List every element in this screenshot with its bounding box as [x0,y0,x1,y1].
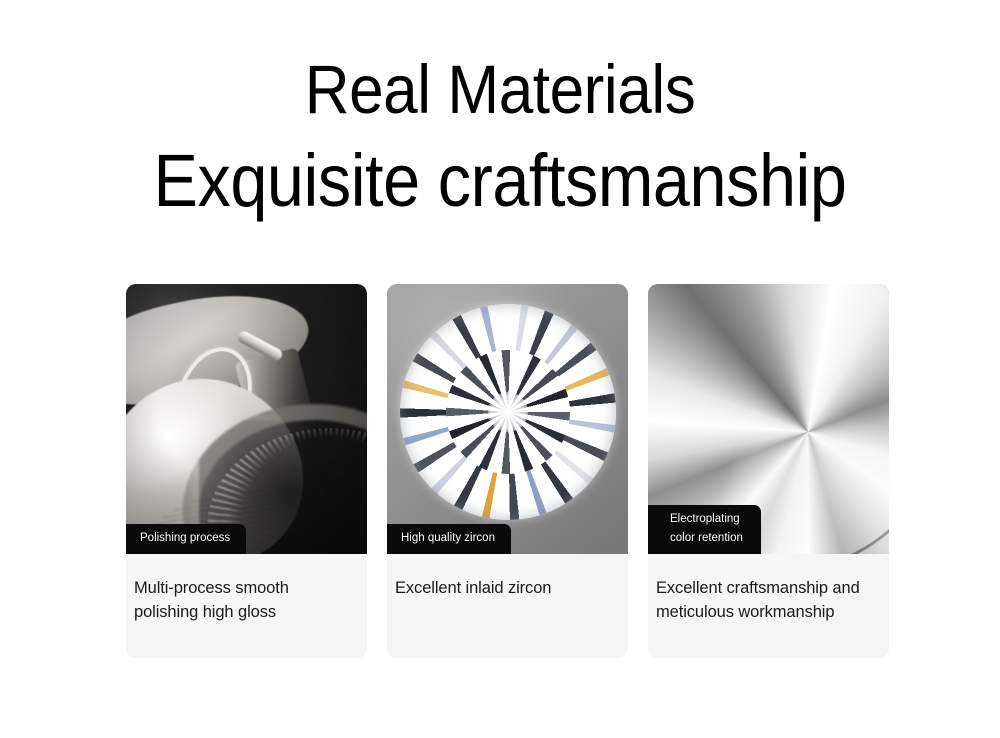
card-caption-polishing: Multi-process smooth polishing high glos… [134,576,361,624]
card-caption-container: Excellent inlaid zircon [387,554,628,634]
card-badge-electroplating: Electroplating color retention [648,505,761,554]
zircon-gemstone-photo: High quality zircon [387,284,628,554]
polishing-process-photo: Polishing process [126,284,367,554]
card-caption-zircon: Excellent inlaid zircon [395,576,622,600]
card-badge-zircon: High quality zircon [387,524,511,554]
photo-vignette [126,284,367,554]
card-badge-polishing: Polishing process [126,524,246,554]
feature-card-list: Polishing process Multi-process smooth p… [126,284,890,658]
feature-card-zircon[interactable]: High quality zircon Excellent inlaid zir… [387,284,628,658]
page-title-line-1: Real Materials [50,52,950,128]
page-title-line-2: Exquisite craftsmanship [50,140,950,222]
feature-card-electroplating[interactable]: Electroplating color retention Excellent… [648,284,889,658]
promo-banner: Real Materials Exquisite craftsmanship P… [0,0,1000,738]
card-caption-container: Excellent craftsmanship and meticulous w… [648,554,889,658]
plated-ring-band-photo: Electroplating color retention [648,284,889,554]
card-caption-electroplating: Excellent craftsmanship and meticulous w… [656,576,883,624]
gem-girdle [400,304,616,520]
feature-card-polishing[interactable]: Polishing process Multi-process smooth p… [126,284,367,658]
page-title: Real Materials Exquisite craftsmanship [0,52,1000,222]
diamond-icon [400,304,616,520]
card-caption-container: Multi-process smooth polishing high glos… [126,554,367,658]
